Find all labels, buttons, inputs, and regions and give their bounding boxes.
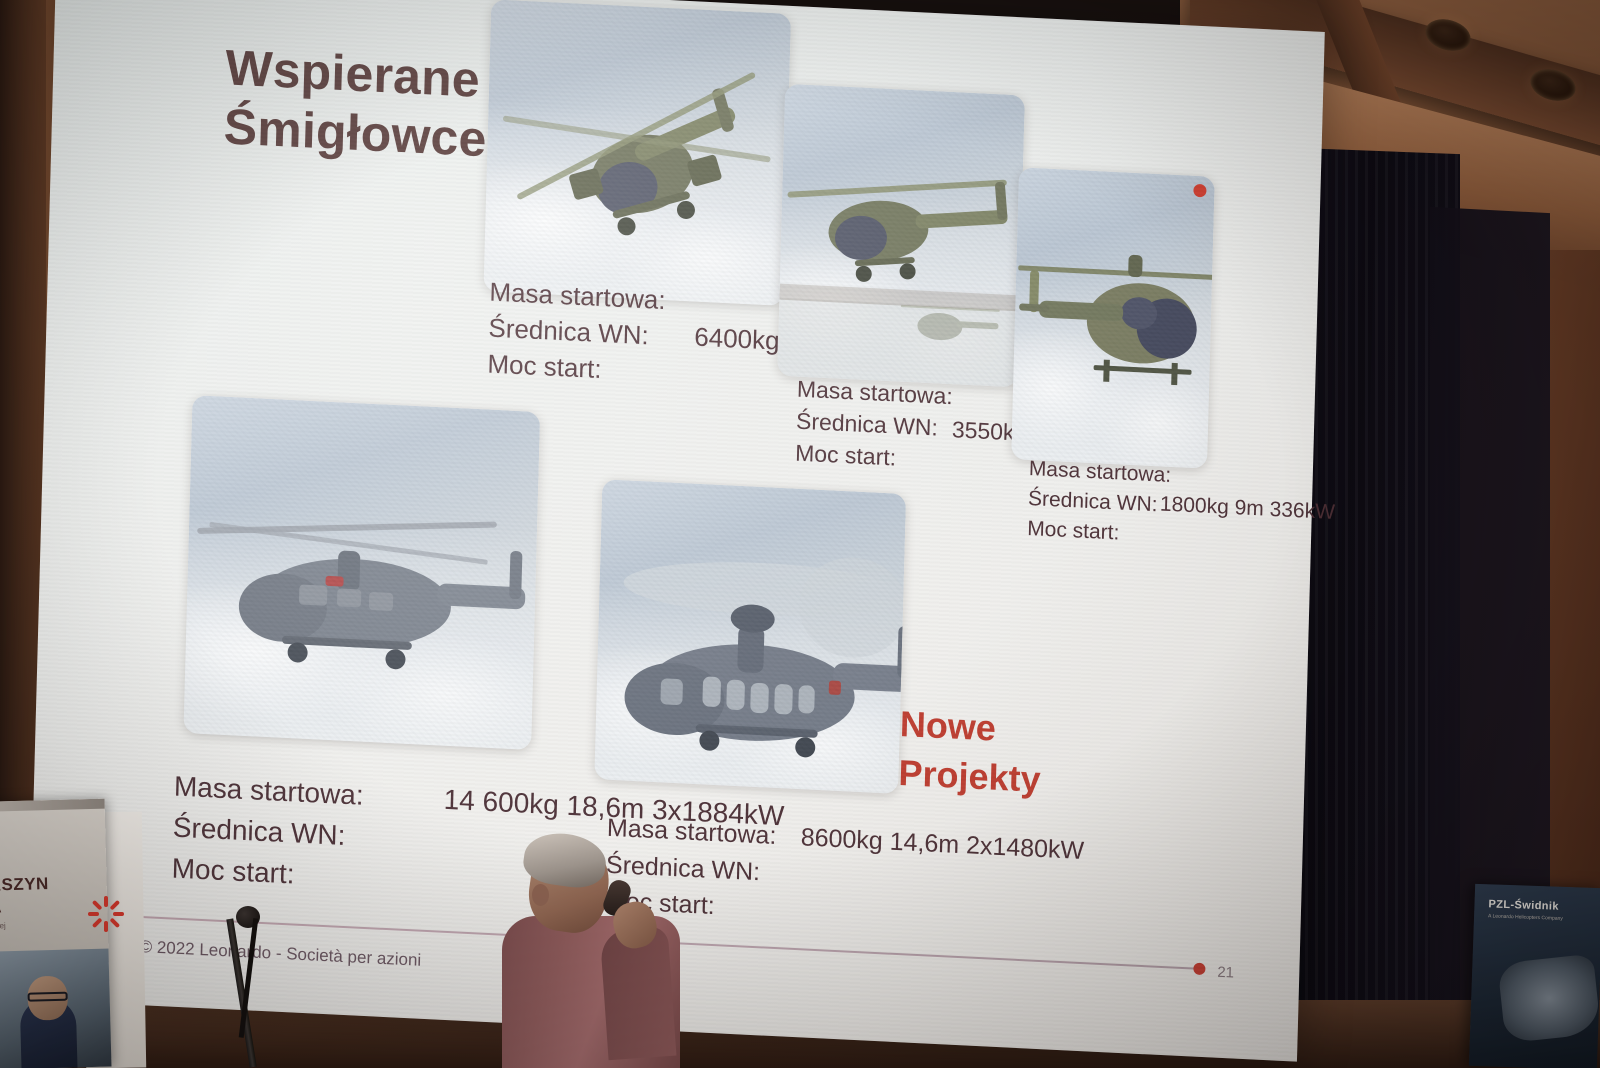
- spec-value-power: 2x1480kW: [966, 831, 1085, 865]
- photo-grain: [594, 479, 906, 794]
- slide-title-line-1: Wspierane: [225, 39, 481, 107]
- callout-line-1: Nowe: [899, 703, 996, 749]
- helicopter-photo-5: [594, 479, 906, 794]
- spec-values-3: 1800kg 9m 336kW: [1160, 489, 1336, 527]
- leonardo-logo-icon-banner: [86, 894, 126, 934]
- spec-labels-3: Masa startowa: Średnica WN: Moc start:: [1027, 454, 1172, 550]
- glasses-icon: [28, 992, 68, 1002]
- banner-right-helicopter-image: [1497, 954, 1600, 1044]
- spec-labels-2: Masa startowa: Średnica WN: Moc start:: [795, 373, 953, 477]
- helicopter-photo-3: [1011, 167, 1215, 468]
- banner-left-photo: [0, 948, 111, 1068]
- banner-right-brand: PZL-Świdnik: [1488, 898, 1559, 912]
- presenter: [496, 828, 686, 1068]
- banner-top-rail: [0, 799, 105, 812]
- spec-value-mass: 1800kg: [1160, 492, 1229, 518]
- banner-left-text-1: ASZYN: [0, 874, 49, 896]
- photo-grain: [483, 0, 791, 306]
- helicopter-photo-4: [183, 395, 540, 750]
- helicopter-photo-1: [483, 0, 791, 306]
- spec-labels-1: Masa startowa: Średnica WN: Moc start:: [487, 274, 666, 390]
- presenter-ear: [532, 884, 549, 906]
- nowe-projekty-callout: Nowe Projekty: [898, 700, 1043, 804]
- spec-value-mass: 6400kg: [694, 322, 780, 356]
- slide-title-line-2: Śmigłowce: [223, 98, 487, 167]
- spec-value-power: 336kW: [1269, 498, 1335, 524]
- copyright-text: © 2022 Leonardo - Società per azioni: [139, 937, 421, 971]
- banner-left-text-2: A: [0, 897, 2, 917]
- spec-value-mass: 14 600kg: [443, 784, 559, 821]
- callout-line-2: Projekty: [898, 752, 1041, 800]
- photo-grain: [777, 84, 1025, 388]
- spec-value-rotor: 9m: [1234, 496, 1264, 520]
- banner-left-text-3: skiej: [0, 921, 6, 930]
- rollup-banner-right: PZL-Świdnik A Leonardo Helicopters Compa…: [1469, 884, 1600, 1068]
- page-number: 21: [1217, 964, 1234, 982]
- banner-right-subtitle: A Leonardo Helicopters Company: [1488, 913, 1563, 922]
- photo-grain: [183, 395, 540, 750]
- spec-value-rotor: 14,6m: [889, 828, 959, 859]
- spec-labels-4: Masa startowa: Średnica WN: Moc start:: [171, 767, 364, 899]
- spec-values-5: 8600kg 14,6m 2x1480kW: [800, 819, 1084, 869]
- photo-grain: [1011, 167, 1215, 468]
- conference-room-scene: Wspierane Śmigłowce: [0, 0, 1600, 1068]
- spec-value-mass: 8600kg: [800, 823, 883, 855]
- footer-accent-dot: [1193, 963, 1205, 976]
- helicopter-photo-2: [777, 84, 1025, 388]
